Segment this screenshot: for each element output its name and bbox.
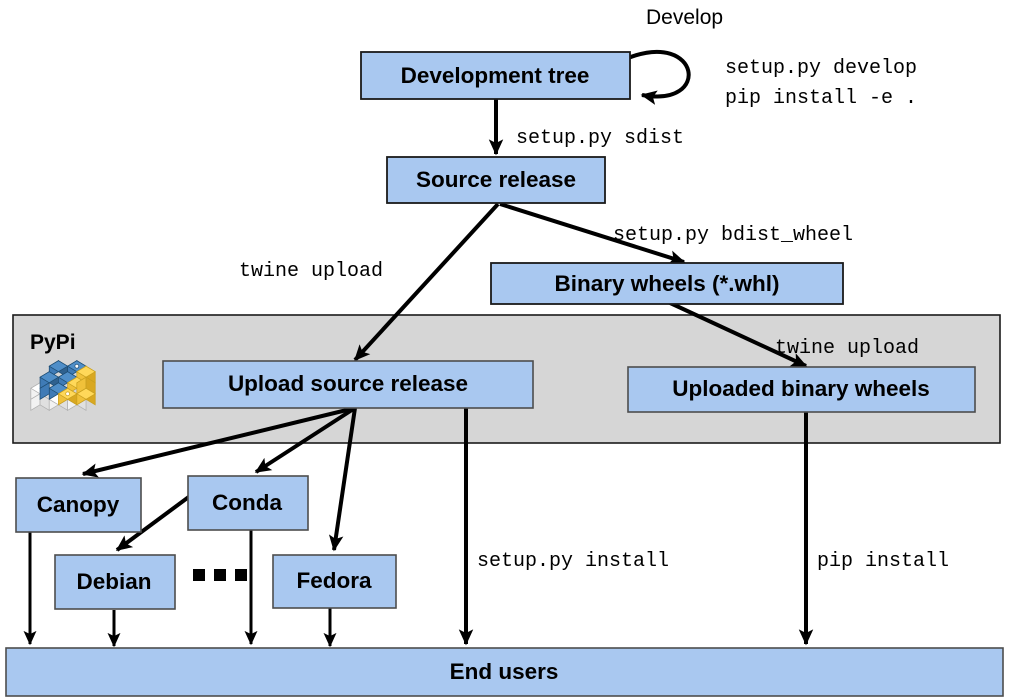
edge-develop-selfloop bbox=[628, 52, 689, 97]
node-conda[interactable]: Conda bbox=[188, 476, 308, 530]
end-users-label: End users bbox=[450, 659, 559, 684]
node-canopy[interactable]: Canopy bbox=[16, 478, 141, 532]
edge-label-develop: Develop bbox=[646, 6, 723, 29]
canopy-label: Canopy bbox=[37, 492, 120, 517]
conda-label: Conda bbox=[212, 490, 282, 515]
node-binary-wheels[interactable]: Binary wheels (*.whl) bbox=[491, 263, 843, 304]
node-source-release[interactable]: Source release bbox=[387, 157, 605, 203]
node-uploaded-binary-wheels[interactable]: Uploaded binary wheels bbox=[628, 367, 975, 412]
ellipsis-dots bbox=[193, 569, 247, 581]
edge-label-setup-develop: setup.py develop bbox=[725, 57, 917, 80]
source-release-label: Source release bbox=[416, 167, 576, 192]
node-debian[interactable]: Debian bbox=[55, 555, 175, 609]
node-upload-source-release[interactable]: Upload source release bbox=[163, 361, 533, 408]
edge-label-pip-install-editable: pip install -e . bbox=[725, 87, 917, 110]
flow-svg: PyPi bbox=[0, 0, 1009, 698]
edge-label-setup-install: setup.py install bbox=[477, 550, 669, 573]
node-fedora[interactable]: Fedora bbox=[273, 555, 396, 608]
binary-wheels-label: Binary wheels (*.whl) bbox=[554, 271, 779, 296]
debian-label: Debian bbox=[76, 569, 151, 594]
edge-label-pip-install: pip install bbox=[817, 550, 949, 573]
node-end-users[interactable]: End users bbox=[6, 648, 1003, 696]
uploaded-binary-wheels-label: Uploaded binary wheels bbox=[672, 376, 930, 401]
upload-source-release-label: Upload source release bbox=[228, 371, 468, 396]
edge-label-twine-upload-wheels: twine upload bbox=[775, 337, 919, 360]
node-development-tree[interactable]: Development tree bbox=[361, 52, 630, 99]
packaging-flow-diagram: PyPi bbox=[0, 0, 1009, 698]
edge-label-twine-upload-source: twine upload bbox=[239, 260, 383, 283]
fedora-label: Fedora bbox=[296, 568, 372, 593]
edge-label-setup-bdist-wheel: setup.py bdist_wheel bbox=[613, 224, 853, 247]
edge-label-setup-sdist: setup.py sdist bbox=[516, 127, 684, 150]
development-tree-label: Development tree bbox=[401, 63, 590, 88]
pypi-group-label: PyPi bbox=[30, 331, 76, 354]
